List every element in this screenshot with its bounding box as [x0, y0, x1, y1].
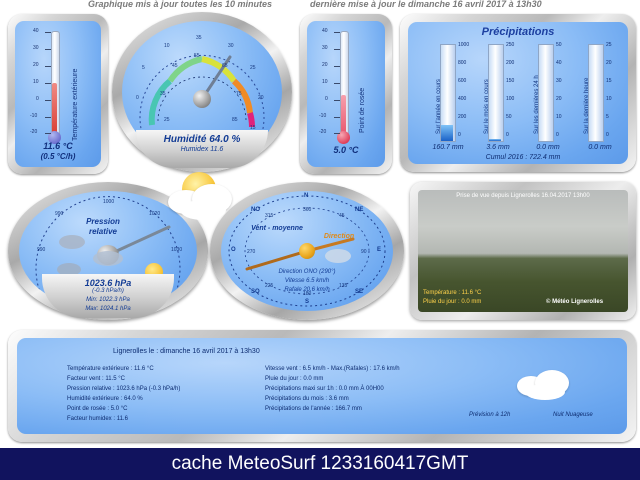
summary-left-1: Facteur vent : 11.5 °C — [67, 376, 125, 382]
precip-fill-month — [489, 139, 501, 141]
summary-right-1: Pluie du jour : 0.0 mm — [265, 376, 323, 382]
wind-deg-360: 360 — [303, 207, 311, 213]
precip-24h-tick-3: 20 — [556, 96, 562, 102]
hum-inner-tick-6: 25 — [164, 117, 170, 123]
precip-year-tick-2: 600 — [458, 78, 466, 84]
temperature-trend: (0.5 °C/h) — [15, 152, 101, 161]
webcam-temperature: Température : 11.6 °C — [423, 290, 481, 296]
temp-tick-4: 0 — [36, 96, 39, 102]
forecast-text: Nuit Nuageuse — [553, 412, 593, 418]
humidity-value: Humidité 64.0 % — [136, 134, 268, 145]
dew-tick-1: 30 — [322, 45, 328, 51]
summary-right-3: Précipitations du mois : 3.6 mm — [265, 396, 349, 402]
temp-tick-2: 20 — [33, 62, 39, 68]
pressure-value: 1023.6 hPa — [42, 278, 174, 288]
pressure-trend: (-0.3 hPa/h) — [42, 288, 174, 294]
hum-inner-tick-1: 65 — [222, 63, 228, 69]
temperature-value: 11.6 °C — [15, 141, 101, 151]
temperature-mercury — [52, 83, 57, 137]
dew-tick-5: -10 — [319, 113, 326, 119]
precip-month-tick-3: 100 — [506, 96, 514, 102]
rain-cloud-icon — [59, 235, 85, 249]
compass-e: E — [377, 247, 381, 253]
temp-tick-0: 40 — [33, 28, 39, 34]
compass-o: O — [231, 247, 236, 253]
precipitation-title: Précipitations — [408, 26, 628, 38]
humidity-needle-hub — [193, 90, 211, 108]
precip-month-tick-1: 200 — [506, 60, 514, 66]
precip-value-24h: 0.0 mm — [520, 144, 576, 151]
temperature-axis-label: Température extérieure — [72, 69, 79, 141]
summary-right-0: Vitesse vent : 6.5 km/h - Max.(Rafales) … — [265, 366, 400, 372]
weather-condition-icon — [166, 172, 242, 228]
precip-label-hour: Sur la dernière heure — [584, 78, 590, 134]
wind-needle-hub — [299, 243, 315, 259]
summary-right-4: Précipitations de l'année : 166.7 mm — [265, 406, 362, 412]
pressure-title: Pression — [63, 217, 143, 226]
precip-year-tick-5: 0 — [458, 132, 461, 138]
dewpoint-face: 40 30 20 10 0 -10 -20 Point de rosée 5.0… — [307, 21, 385, 167]
hum-outer-tick-3: 20 — [258, 95, 264, 101]
footer-bar: cache MeteoSurf 1233160417GMT — [0, 448, 640, 480]
wind-deg-270: 270 — [247, 249, 255, 255]
pressure-min: Min: 1022.3 hPa — [42, 297, 174, 303]
forecast-cloud-base-icon — [525, 384, 565, 400]
precip-label-24h: Sur les dernières 24 h — [534, 75, 540, 134]
hum-inner-tick-3: 75 — [236, 91, 242, 97]
temperature-panel[interactable]: 40 30 20 10 0 -10 -20 Température extéri… — [8, 14, 108, 174]
dewpoint-value: 5.0 °C — [307, 145, 385, 155]
webcam-rain: Pluie du jour : 0.0 mm — [423, 299, 481, 305]
wind-direction: Direction ONO (290°) — [257, 269, 357, 275]
summary-left-4: Point de rosée : 5.0 °C — [67, 406, 127, 412]
header-right-caption: dernière mise à jour le dimanche 16 avri… — [310, 0, 542, 9]
dew-tick-6: -20 — [319, 129, 326, 135]
precip-value-month: 3.6 mm — [470, 144, 526, 151]
pressure-tick-1010: 1000 — [103, 199, 114, 205]
summary-left-2: Pression relative : 1023.6 hPa (-0.3 hPa… — [67, 386, 180, 392]
webcam-credit: © Météo Lignerolles — [546, 299, 603, 305]
hum-outer-tick-7: 0 — [136, 95, 139, 101]
dew-tick-4: 0 — [325, 96, 328, 102]
footer-text: cache MeteoSurf 1233160417GMT — [0, 448, 640, 480]
temp-tick-5: -10 — [30, 113, 37, 119]
compass-s: S — [305, 299, 309, 305]
webcam-caption: Prise de vue depuis Lignerolles 16.04.20… — [418, 193, 628, 199]
pressure-tick-1020: 1020 — [149, 211, 160, 217]
summary-panel[interactable]: Lignerolles le : dimanche 16 avril 2017 … — [8, 330, 636, 442]
precip-cumul: Cumul 2016 : 722.4 mm — [448, 154, 598, 161]
hum-outer-tick-6: 5 — [142, 65, 145, 71]
wind-face: N NO NE O E SO SE S 45 90 135 180 225 27… — [221, 191, 393, 311]
precip-hour-tick-1: 20 — [606, 60, 612, 66]
precip-hour-tick-4: 5 — [606, 114, 609, 120]
precip-year-tick-0: 1000 — [458, 42, 469, 48]
precip-fill-year — [441, 125, 453, 141]
hum-inner-tick-0: 55 — [194, 53, 200, 59]
precip-month-tick-4: 50 — [506, 114, 512, 120]
dewpoint-axis-label: Point de rosée — [359, 88, 366, 133]
weather-station-dashboard: Graphique mis à jour toutes les 10 minut… — [0, 0, 640, 480]
hum-inner-tick-5: 85 — [232, 117, 238, 123]
pressure-max: Max: 1024.1 hPa — [42, 306, 174, 312]
precip-hour-tick-5: 0 — [606, 132, 609, 138]
header-left-caption: Graphique mis à jour toutes les 10 minut… — [88, 0, 272, 9]
hum-outer-tick-5: 10 — [164, 43, 170, 49]
humidex-value: Humidex 11.6 — [136, 146, 268, 153]
forecast-label: Prévision à 12h — [469, 412, 510, 418]
temp-tick-6: -20 — [30, 129, 37, 135]
summary-heading: Lignerolles le : dimanche 16 avril 2017 … — [113, 348, 260, 355]
precip-year-tick-1: 800 — [458, 60, 466, 66]
wind-gust: Rafale 20.6 km/h — [257, 287, 357, 293]
summary-right-2: Précipitations maxi sur 1h : 0.0 mm À 00… — [265, 386, 384, 392]
precip-month-tick-0: 250 — [506, 42, 514, 48]
precip-year-tick-4: 200 — [458, 114, 466, 120]
precip-month-tick-5: 0 — [506, 132, 509, 138]
dewpoint-panel[interactable]: 40 30 20 10 0 -10 -20 Point de rosée 5.0… — [300, 14, 392, 174]
hum-inner-tick-2: 45 — [172, 63, 178, 69]
compass-no: NO — [251, 207, 260, 213]
hum-outer-tick-0: 35 — [196, 35, 202, 41]
precip-value-hour: 0.0 mm — [572, 144, 628, 151]
precipitation-panel[interactable]: Précipitations Sur l'année en cours 1000… — [400, 14, 636, 172]
wind-speed: Vitesse 6.5 km/h — [257, 278, 357, 284]
compass-n: N — [304, 193, 308, 199]
precip-hour-tick-2: 15 — [606, 78, 612, 84]
dew-tick-2: 20 — [322, 62, 328, 68]
wind-title-left: Vent - moyenne — [249, 225, 305, 232]
pressure-tick-1030: 1030 — [171, 247, 182, 253]
summary-left-3: Humidité extérieure : 64.0 % — [67, 396, 143, 402]
precip-hour-tick-0: 25 — [606, 42, 612, 48]
summary-left-0: Température extérieure : 11.6 °C — [67, 366, 154, 372]
precip-24h-tick-2: 30 — [556, 78, 562, 84]
wind-cloud-icon — [325, 249, 351, 263]
dew-tick-3: 10 — [322, 79, 328, 85]
hum-outer-tick-1: 30 — [228, 43, 234, 49]
precip-label-year: Sur l'année en cours — [436, 79, 442, 134]
humidity-gauge[interactable]: 35 30 25 20 15 10 5 0 55 65 45 75 35 85 … — [112, 12, 292, 172]
precip-value-year: 160.7 mm — [420, 144, 476, 151]
precip-24h-tick-0: 50 — [556, 42, 562, 48]
wind-deg-90: 90 — [361, 249, 367, 255]
summary-face: Lignerolles le : dimanche 16 avril 2017 … — [17, 338, 627, 434]
webcam-panel[interactable]: Prise de vue depuis Lignerolles 16.04.20… — [410, 182, 636, 320]
hum-inner-tick-4: 35 — [160, 91, 166, 97]
pressure-tick-990: 990 — [37, 247, 45, 253]
precip-bar-hour — [588, 44, 604, 142]
precip-24h-tick-1: 40 — [556, 60, 562, 66]
precip-24h-tick-4: 10 — [556, 114, 562, 120]
precip-24h-tick-5: 0 — [556, 132, 559, 138]
hum-outer-tick-2: 25 — [250, 65, 256, 71]
temp-tick-3: 10 — [33, 79, 39, 85]
precip-label-month: Sur le mois en cours — [484, 79, 490, 134]
precip-year-tick-3: 400 — [458, 96, 466, 102]
precip-bar-month — [488, 44, 504, 142]
wind-title-right: Direction — [309, 233, 369, 240]
precipitation-face: Précipitations Sur l'année en cours 1000… — [408, 22, 628, 164]
cloud-base-icon — [180, 200, 226, 220]
forecast-icon — [515, 362, 573, 404]
webcam-image: Prise de vue depuis Lignerolles 16.04.20… — [418, 190, 628, 312]
precip-month-tick-2: 150 — [506, 78, 514, 84]
precip-bar-year — [440, 44, 456, 142]
wind-deg-315: 315 — [265, 213, 273, 219]
dew-tick-0: 40 — [322, 28, 328, 34]
precip-bar-24h — [538, 44, 554, 142]
cloud-icon — [93, 251, 123, 266]
temperature-face: 40 30 20 10 0 -10 -20 Température extéri… — [15, 21, 101, 167]
precip-hour-tick-3: 10 — [606, 96, 612, 102]
summary-left-5: Facteur humidex : 11.6 — [67, 416, 128, 422]
compass-ne: NE — [355, 207, 363, 213]
temp-tick-1: 30 — [33, 45, 39, 51]
wind-deg-45: 45 — [339, 213, 345, 219]
